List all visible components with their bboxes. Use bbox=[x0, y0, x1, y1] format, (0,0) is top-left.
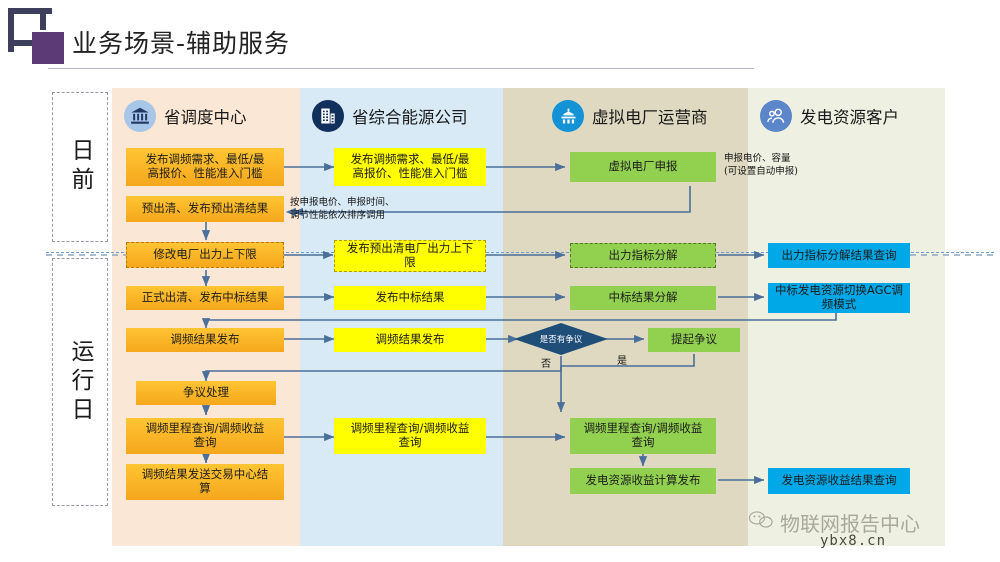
users-icon bbox=[760, 100, 792, 132]
node-label: 中标发电资源切换AGC调频模式 bbox=[775, 284, 903, 311]
node-label: 预出清、发布预出清结果 bbox=[142, 202, 269, 216]
lane-title-1: 省综合能源公司 bbox=[352, 104, 468, 128]
node-label: 调频里程查询/调频收益查询 bbox=[584, 422, 703, 449]
node-label: 虚拟电厂申报 bbox=[609, 160, 678, 174]
node-n14[interactable]: 调频结果发布 bbox=[334, 328, 486, 352]
phase-label-text: 运行日 bbox=[63, 339, 97, 426]
node-n2[interactable]: 发布调频需求、最低/最高报价、性能准入门槛 bbox=[334, 148, 486, 186]
node-label: 争议处理 bbox=[183, 386, 229, 400]
node-label: 发布调频需求、最低/最高报价、性能准入门槛 bbox=[146, 153, 265, 180]
node-n6[interactable]: 发布预出清电厂出力上下限 bbox=[334, 240, 486, 272]
title-divider bbox=[48, 68, 754, 69]
annotation-dispatch-order: 按申报电价、申报时间、调节性能依次排序调用 bbox=[290, 197, 395, 223]
lane-header-2: 虚拟电厂运营商 bbox=[552, 96, 708, 136]
lane-header-3: 发电资源客户 bbox=[760, 96, 899, 136]
bank-icon bbox=[124, 100, 156, 132]
node-n17[interactable]: 调频里程查询/调频收益查询 bbox=[126, 418, 284, 454]
wechat-icon bbox=[748, 510, 774, 535]
edge-label-no: 否 bbox=[541, 355, 551, 370]
node-n21[interactable]: 发电资源收益计算发布 bbox=[570, 468, 716, 494]
brand-logo bbox=[8, 8, 64, 64]
node-n13[interactable]: 调频结果发布 bbox=[126, 328, 284, 352]
node-n20[interactable]: 调频结果发送交易中心结算 bbox=[126, 464, 284, 500]
node-label: 出力指标分解 bbox=[609, 249, 678, 263]
node-n19[interactable]: 调频里程查询/调频收益查询 bbox=[570, 418, 716, 454]
logo-bar-right bbox=[40, 8, 46, 30]
decision-has-dispute[interactable]: 是否有争议 bbox=[514, 323, 608, 355]
watermark-subtext: ybx8.cn bbox=[820, 533, 886, 549]
node-label: 中标结果分解 bbox=[609, 291, 678, 305]
lane-header-0: 省调度中心 bbox=[124, 96, 247, 136]
node-label: 发布调频需求、最低/最高报价、性能准入门槛 bbox=[351, 153, 470, 180]
phase-label-text: 日前 bbox=[63, 138, 97, 196]
decision-label: 是否有争议 bbox=[540, 333, 583, 345]
node-label: 发电资源收益计算发布 bbox=[586, 474, 701, 488]
node-label: 调频结果发送交易中心结算 bbox=[142, 468, 269, 495]
edge-label-yes: 是 bbox=[617, 352, 627, 367]
node-n4[interactable]: 预出清、发布预出清结果 bbox=[126, 196, 284, 222]
plant-icon bbox=[552, 100, 584, 132]
lane-title-0: 省调度中心 bbox=[164, 104, 247, 128]
office-building-icon bbox=[312, 100, 344, 132]
node-label: 调频里程查询/调频收益查询 bbox=[351, 422, 470, 449]
logo-bar-bottom bbox=[8, 40, 34, 46]
node-n22[interactable]: 发电资源收益结果查询 bbox=[768, 468, 910, 494]
node-label: 发布中标结果 bbox=[376, 291, 445, 305]
annotation-bid-price-capacity: 申报电价、容量(可设置自动申报) bbox=[724, 153, 798, 179]
node-n5[interactable]: 修改电厂出力上下限 bbox=[126, 242, 284, 268]
lane-title-3: 发电资源客户 bbox=[800, 104, 899, 128]
slide-canvas: 业务场景-辅助服务 日前 运行日 省调度中心 省综合能源公司 虚拟电厂运营商 发… bbox=[0, 0, 1000, 562]
node-n8[interactable]: 出力指标分解结果查询 bbox=[768, 243, 910, 268]
node-n16[interactable]: 争议处理 bbox=[136, 381, 276, 405]
node-label: 调频结果发布 bbox=[376, 333, 445, 347]
logo-square bbox=[32, 32, 64, 64]
node-label: 正式出清、发布中标结果 bbox=[142, 291, 269, 305]
phase-label-day-ahead: 日前 bbox=[52, 92, 108, 242]
node-n7[interactable]: 出力指标分解 bbox=[570, 243, 716, 268]
node-n9[interactable]: 正式出清、发布中标结果 bbox=[126, 286, 284, 310]
node-n11[interactable]: 中标结果分解 bbox=[570, 286, 716, 310]
node-n15[interactable]: 提起争议 bbox=[648, 328, 740, 352]
node-label: 调频结果发布 bbox=[171, 333, 240, 347]
node-n12[interactable]: 中标发电资源切换AGC调频模式 bbox=[768, 283, 910, 313]
node-n1[interactable]: 发布调频需求、最低/最高报价、性能准入门槛 bbox=[126, 148, 284, 186]
node-n18[interactable]: 调频里程查询/调频收益查询 bbox=[334, 418, 486, 454]
node-n10[interactable]: 发布中标结果 bbox=[334, 286, 486, 310]
node-label: 调频里程查询/调频收益查询 bbox=[146, 422, 265, 449]
page-title: 业务场景-辅助服务 bbox=[72, 24, 290, 60]
node-label: 发布预出清电厂出力上下限 bbox=[347, 242, 474, 269]
node-label: 发电资源收益结果查询 bbox=[782, 474, 897, 488]
node-label: 提起争议 bbox=[671, 333, 717, 347]
node-label: 出力指标分解结果查询 bbox=[782, 249, 897, 263]
node-label: 修改电厂出力上下限 bbox=[153, 248, 257, 262]
lane-title-2: 虚拟电厂运营商 bbox=[592, 104, 708, 128]
phase-label-operating-day: 运行日 bbox=[52, 258, 108, 506]
node-n3[interactable]: 虚拟电厂申报 bbox=[570, 152, 716, 182]
lane-header-1: 省综合能源公司 bbox=[312, 96, 468, 136]
